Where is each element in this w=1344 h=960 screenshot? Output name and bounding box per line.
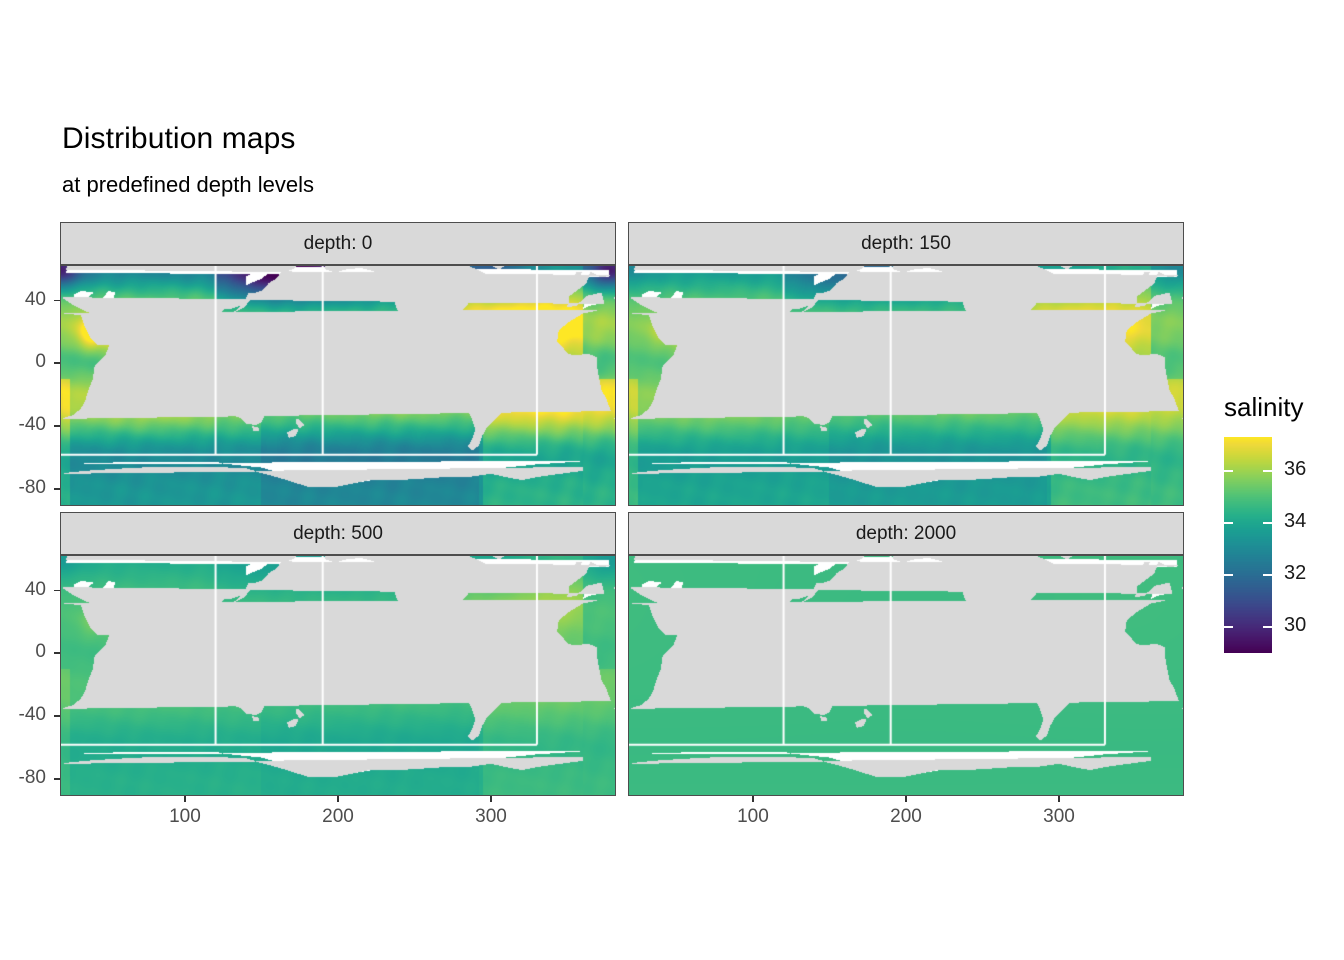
y-axis-tick-label: -40 [0,704,46,726]
facet-strip-d500: depth: 500 [60,512,616,555]
x-axis-tick-mark [337,796,339,802]
facet-strip-label: depth: 500 [293,523,383,545]
y-axis-tick-label: -80 [0,477,46,499]
y-axis-tick-mark [54,715,60,717]
map-panel-d2000 [628,555,1184,796]
facet-panel-d500: depth: 500 [60,512,616,796]
x-axis-tick-label: 300 [1009,806,1109,828]
x-axis-tick-mark [490,796,492,802]
x-axis-tick-label: 300 [441,806,541,828]
y-axis-tick-label: 40 [0,579,46,601]
map-panel-d0 [60,265,616,506]
x-axis-tick-label: 100 [135,806,235,828]
legend-tick-mark [1224,626,1233,628]
y-axis-tick-mark [54,488,60,490]
map-canvas-d150 [629,266,1183,505]
y-axis-tick-mark [54,362,60,364]
map-canvas-d500 [61,556,615,795]
legend-tick-mark [1224,470,1233,472]
page-subtitle: at predefined depth levels [62,172,314,198]
legend-tick-label: 36 [1284,458,1306,481]
chart-page: Distribution maps at predefined depth le… [0,0,1344,960]
legend-tick-mark [1263,522,1272,524]
legend-tick-mark [1263,574,1272,576]
facet-strip-d2000: depth: 2000 [628,512,1184,555]
y-axis-tick-mark [54,590,60,592]
y-axis-tick-mark [54,778,60,780]
legend-tick-mark [1224,574,1233,576]
legend-tick-label: 32 [1284,562,1306,585]
facet-panel-d150: depth: 150 [628,222,1184,506]
facet-panel-d0: depth: 0 [60,222,616,506]
legend-title: salinity [1224,392,1303,423]
x-axis-tick-label: 100 [703,806,803,828]
y-axis-tick-label: 0 [0,351,46,373]
legend-tick-mark [1263,470,1272,472]
facet-panel-d2000: depth: 2000 [628,512,1184,796]
facet-strip-label: depth: 0 [304,233,373,255]
map-canvas-d2000 [629,556,1183,795]
y-axis-tick-label: 0 [0,641,46,663]
map-panel-d150 [628,265,1184,506]
y-axis-tick-mark [54,652,60,654]
y-axis-tick-mark [54,425,60,427]
y-axis-tick-label: 40 [0,289,46,311]
y-axis-tick-label: -40 [0,414,46,436]
page-title: Distribution maps [62,122,295,156]
x-axis-tick-label: 200 [288,806,388,828]
legend-tick-label: 34 [1284,510,1306,533]
legend-tick-label: 30 [1284,614,1306,637]
facet-strip-label: depth: 2000 [856,523,956,545]
x-axis-tick-mark [1058,796,1060,802]
y-axis-tick-mark [54,300,60,302]
legend-tick-mark [1224,522,1233,524]
map-panel-d500 [60,555,616,796]
y-axis-tick-label: -80 [0,767,46,789]
x-axis-tick-label: 200 [856,806,956,828]
facet-strip-d150: depth: 150 [628,222,1184,265]
x-axis-tick-mark [752,796,754,802]
facet-strip-label: depth: 150 [861,233,951,255]
map-canvas-d0 [61,266,615,505]
legend-tick-mark [1263,626,1272,628]
x-axis-tick-mark [905,796,907,802]
x-axis-tick-mark [184,796,186,802]
facet-strip-d0: depth: 0 [60,222,616,265]
